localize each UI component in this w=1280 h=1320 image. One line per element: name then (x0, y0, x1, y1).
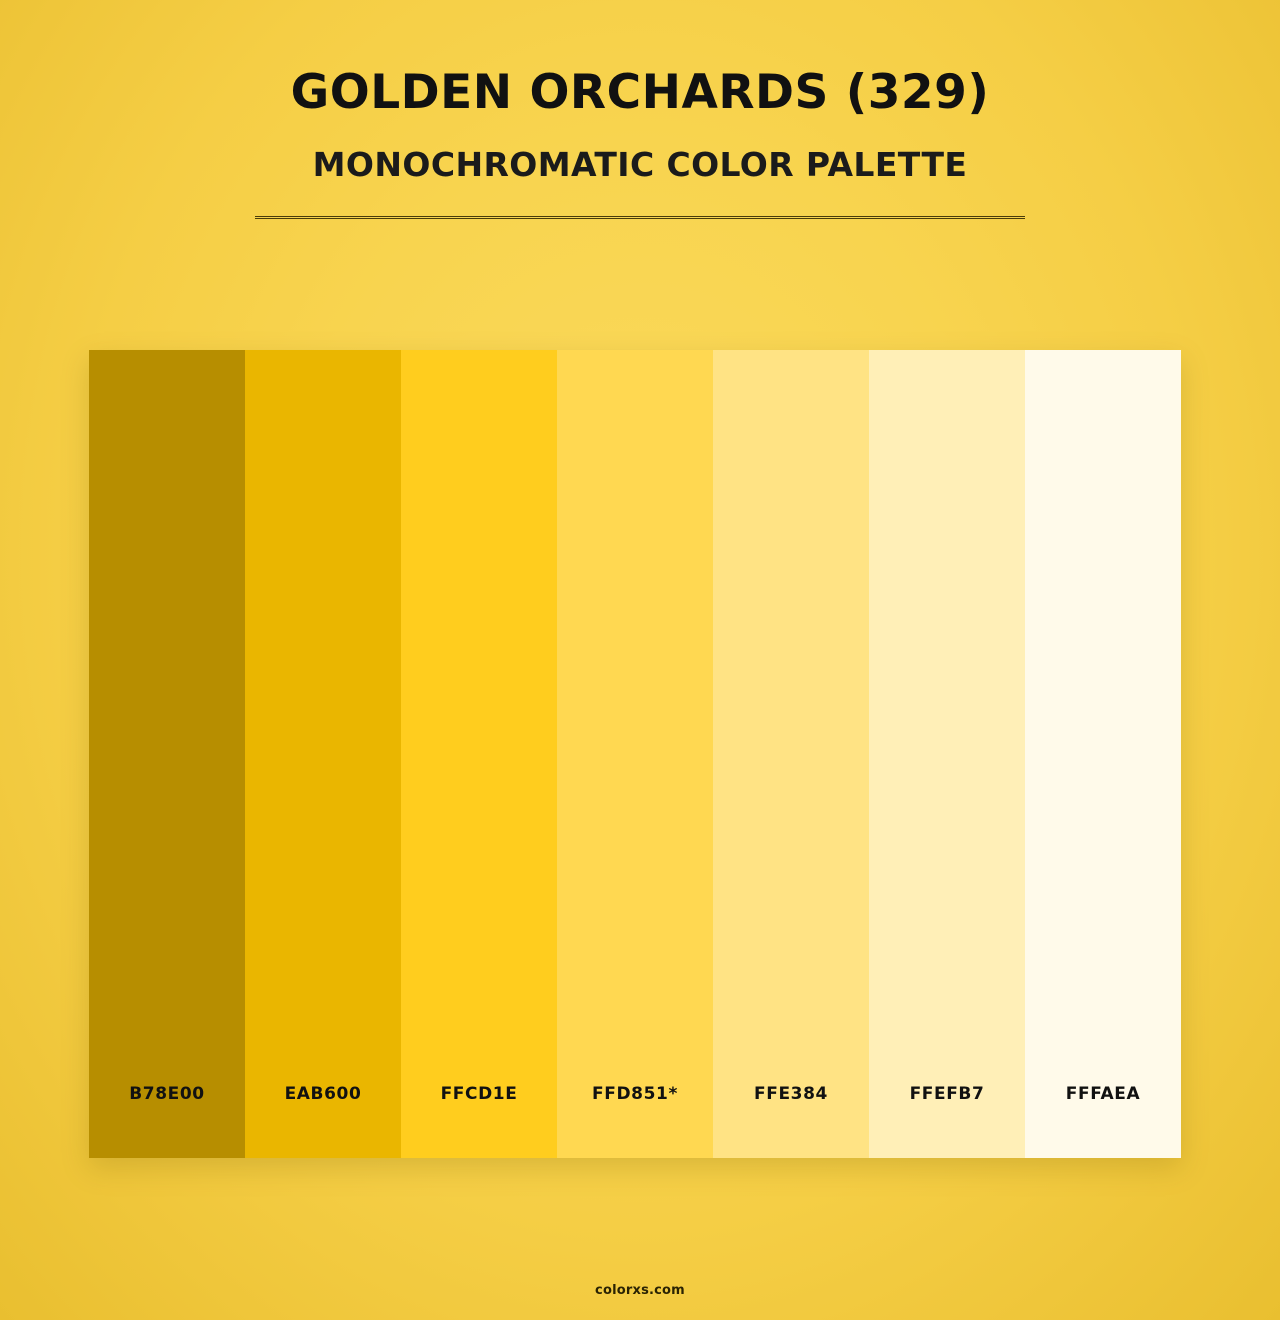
color-swatch[interactable]: B78E00 (89, 350, 245, 1158)
header-divider (255, 216, 1025, 219)
color-swatch[interactable]: EAB600 (245, 350, 401, 1158)
swatch-hex-label: FFCD1E (401, 1030, 557, 1158)
swatch-color-block[interactable] (89, 350, 245, 1030)
color-swatch[interactable]: FFEFB7 (869, 350, 1025, 1158)
swatch-hex-label: FFE384 (713, 1030, 869, 1158)
swatch-color-block[interactable] (713, 350, 869, 1030)
color-swatch[interactable]: FFFAEA (1025, 350, 1181, 1158)
swatch-hex-label: FFFAEA (1025, 1030, 1181, 1158)
color-swatch[interactable]: FFCD1E (401, 350, 557, 1158)
color-swatch[interactable]: FFE384 (713, 350, 869, 1158)
page-title: GOLDEN ORCHARDS (329) (0, 68, 1280, 117)
swatch-color-block[interactable] (557, 350, 713, 1030)
page-subtitle: MONOCHROMATIC COLOR PALETTE (0, 145, 1280, 184)
swatch-color-block[interactable] (1025, 350, 1181, 1030)
swatch-hex-label: B78E00 (89, 1030, 245, 1158)
page-header: GOLDEN ORCHARDS (329) MONOCHROMATIC COLO… (0, 0, 1280, 219)
palette-page: GOLDEN ORCHARDS (329) MONOCHROMATIC COLO… (0, 0, 1280, 1320)
swatch-hex-label: EAB600 (245, 1030, 401, 1158)
color-palette: B78E00EAB600FFCD1EFFD851*FFE384FFEFB7FFF… (89, 350, 1181, 1158)
swatch-hex-label: FFD851* (557, 1030, 713, 1158)
swatch-color-block[interactable] (245, 350, 401, 1030)
swatch-hex-label: FFEFB7 (869, 1030, 1025, 1158)
footer-source: colorxs.com (0, 1283, 1280, 1298)
swatch-color-block[interactable] (401, 350, 557, 1030)
color-swatch[interactable]: FFD851* (557, 350, 713, 1158)
swatch-color-block[interactable] (869, 350, 1025, 1030)
